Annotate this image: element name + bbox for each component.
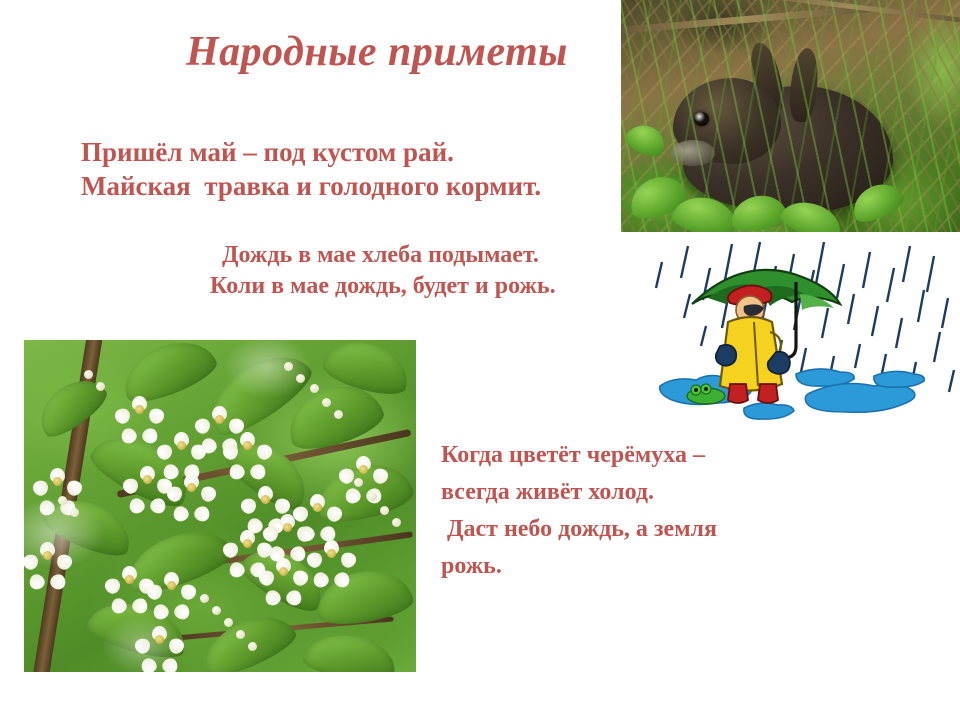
saying-line: Даст небо дождь, а земля: [441, 511, 717, 548]
saying-line: рожь.: [441, 548, 717, 585]
cherry-photo-highlight: [24, 340, 416, 672]
saying-line: Майская травка и голодного кормит.: [81, 169, 541, 203]
saying-line: Дождь в мае хлеба подымает.: [210, 240, 556, 271]
boot: [728, 384, 748, 403]
hare-photo: [621, 0, 960, 232]
boot: [758, 384, 778, 403]
saying-line: Коли в мае дождь, будет и рожь.: [210, 271, 556, 302]
puddle: [874, 371, 924, 387]
rain-sayings: Дождь в мае хлеба подымает. Коли в мае д…: [210, 240, 556, 302]
may-sayings: Пришёл май – под кустом рай. Майская тра…: [81, 135, 541, 203]
rain-clipart: [648, 240, 960, 430]
slide-canvas: Народные приметы Пришёл май – под кустом…: [0, 0, 960, 720]
saying-line: Пришёл май – под кустом рай.: [81, 135, 541, 169]
saying-line: всегда живёт холод.: [441, 474, 717, 511]
raindrops-group: [656, 242, 954, 392]
page-title: Народные приметы: [186, 28, 568, 76]
bird-cherry-photo: [24, 340, 416, 672]
saying-line: Когда цветёт черёмуха –: [441, 437, 717, 474]
bag: [716, 345, 737, 366]
cherry-sayings: Когда цветёт черёмуха – всегда живёт хол…: [441, 437, 717, 585]
puddle: [744, 403, 794, 419]
